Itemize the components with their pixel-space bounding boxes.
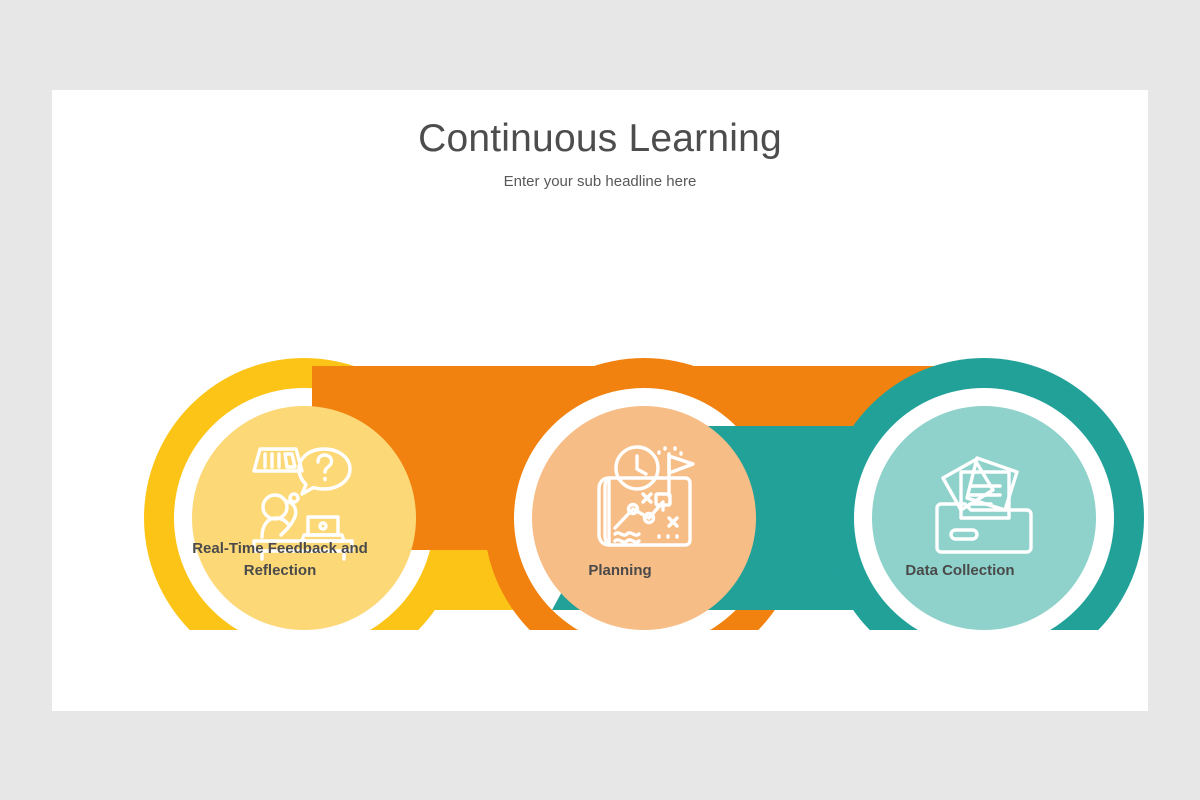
stage-node-2[interactable]: [532, 406, 756, 630]
slide-canvas: Continuous Learning Enter your sub headl…: [52, 90, 1148, 711]
process-diagram-svg: [52, 250, 1148, 630]
page-subtitle: Enter your sub headline here: [52, 173, 1148, 190]
stage-node-1[interactable]: [192, 406, 416, 630]
stage-node-3[interactable]: [872, 406, 1096, 630]
page-title: Continuous Learning: [52, 117, 1148, 161]
inner-disc-yellow: [192, 406, 416, 630]
process-diagram: Real-Time Feedback and Reflection Planni…: [52, 250, 1148, 630]
